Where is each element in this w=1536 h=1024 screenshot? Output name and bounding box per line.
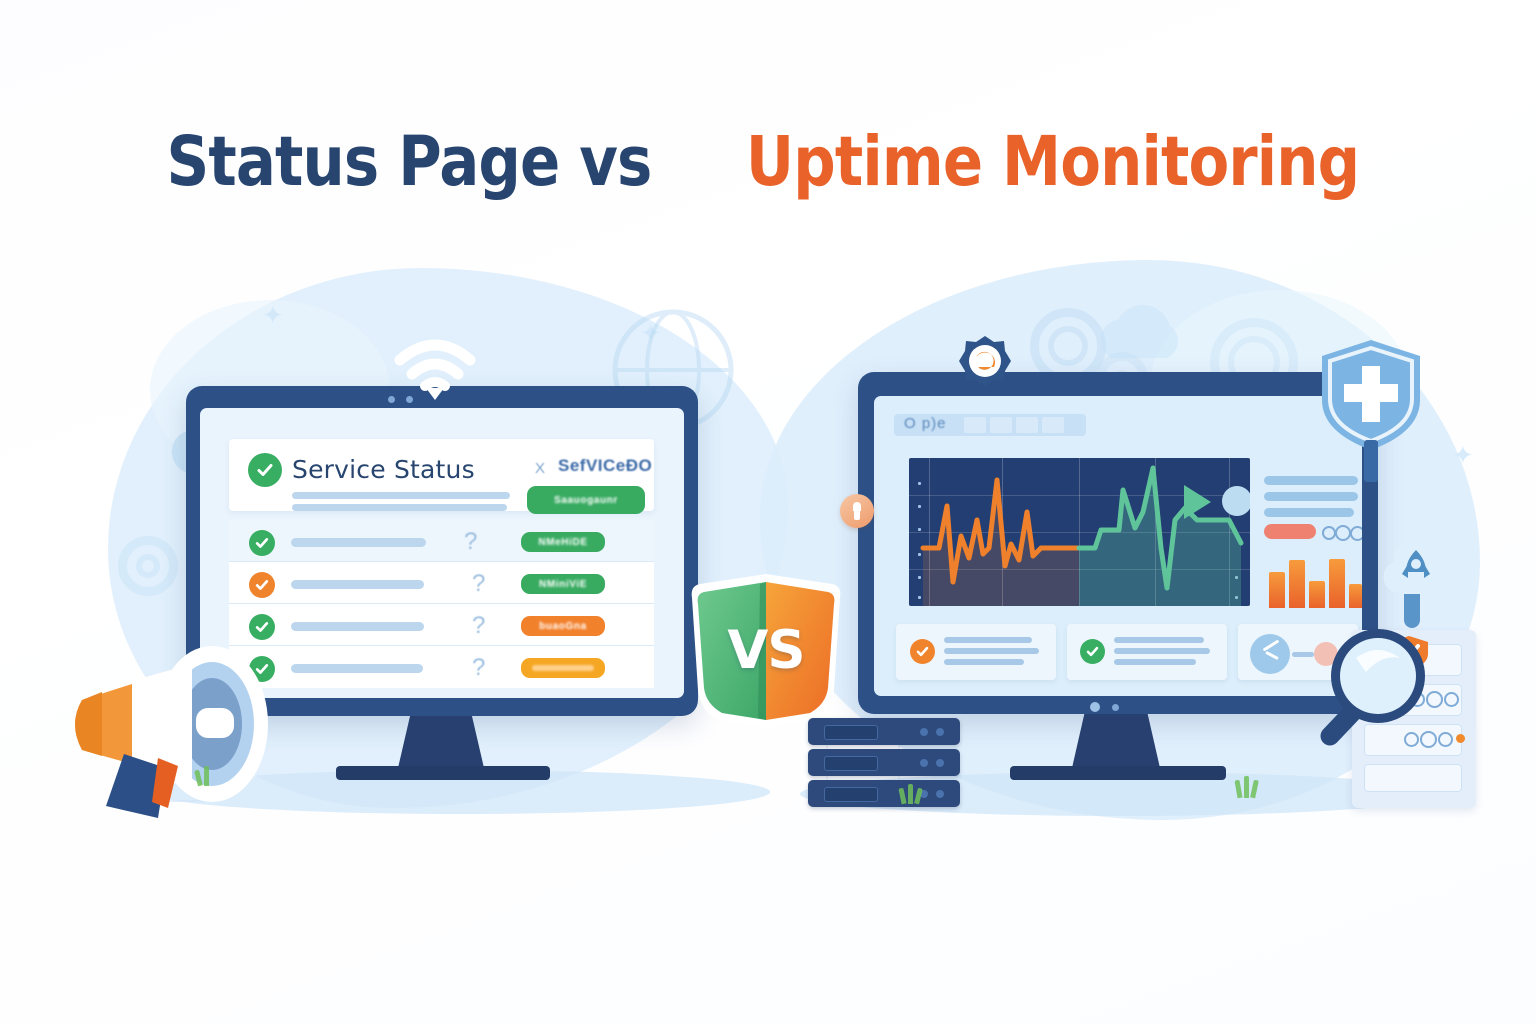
row-hint: ? (472, 612, 485, 640)
card-line (944, 637, 1032, 643)
card-status-icon (910, 639, 935, 664)
gear-icon (118, 536, 178, 596)
shield-health-icon (1316, 336, 1426, 454)
row-label-bar (291, 538, 426, 547)
row-status-label (532, 665, 594, 671)
magnifying-glass-icon (1286, 614, 1426, 764)
card-line (1114, 659, 1196, 665)
service-status-title: Service Status (292, 455, 475, 484)
monitor-led (1112, 704, 1119, 711)
sidebar-alert-pill[interactable] (1264, 524, 1316, 539)
sidebar-bar (1349, 584, 1362, 608)
row-status-icon (249, 572, 275, 598)
row-status-pill[interactable] (521, 658, 605, 678)
card-line (944, 648, 1039, 654)
grass-decor (1244, 776, 1249, 798)
card-line (1114, 637, 1204, 643)
row-hint: ? (472, 570, 485, 598)
title-uptime-monitoring: Uptime Monitoring (746, 122, 1359, 202)
vs-badge: VS (682, 570, 850, 730)
status-led (1456, 734, 1465, 743)
monitor-neck (398, 716, 484, 768)
illustration-canvas: Status Page vs Uptime Monitoring ✦ ✦ ✦ (0, 0, 1536, 1024)
placeholder-line (292, 504, 507, 511)
brand-x-mark: X (535, 460, 545, 477)
screen-header-label: O p)e (904, 415, 947, 432)
sidebar-bar (1329, 559, 1345, 608)
card-line (944, 659, 1024, 665)
header-segment (990, 417, 1012, 433)
status-ring-icon (1350, 526, 1362, 541)
cloud-stand (1404, 594, 1420, 628)
lock-icon (840, 494, 874, 528)
placeholder-line (292, 492, 510, 499)
title-status-page: Status Page vs (167, 122, 652, 202)
decor-cloud-icon (1090, 300, 1210, 380)
row-status-label: NMiniViE (539, 579, 587, 590)
chart-series (909, 458, 1250, 606)
wifi-icon (392, 338, 478, 400)
sidebar-text-line (1264, 508, 1354, 517)
grass-decor (204, 766, 209, 786)
row-label-bar (291, 580, 424, 589)
vs-label: VS (682, 570, 850, 730)
status-ring-icon (1322, 526, 1336, 540)
brand-name: SefVICeÐO (558, 456, 652, 476)
sidebar-bar (1289, 560, 1305, 608)
gear-badge-icon (958, 334, 1012, 388)
card-status-icon (1080, 639, 1105, 664)
status-dot (1222, 486, 1250, 516)
sparkle-icon: ✦ (262, 300, 284, 331)
row-status-pill[interactable]: NMiniViE (521, 574, 605, 594)
row-status-pill[interactable]: NMeHiDE (521, 532, 605, 552)
uptime-response-chart (909, 458, 1250, 606)
row-status-pill[interactable]: buaoGna (521, 616, 605, 636)
status-check-icon (248, 453, 282, 487)
sidebar-bar (1269, 572, 1285, 608)
monitor-base (1010, 766, 1226, 780)
header-action-label: Saauogaunr (554, 495, 618, 506)
sidebar-text-line (1264, 492, 1358, 501)
header-action-pill[interactable]: Saauogaunr (527, 486, 645, 514)
row-status-label: NMeHiDE (538, 537, 587, 548)
sidebar-text-line (1264, 476, 1358, 485)
shield-stand (1364, 440, 1378, 482)
grass-decor (908, 784, 913, 804)
server-rack-icon (808, 718, 968, 810)
row-hint: ? (464, 528, 477, 556)
sparkle-icon: ✦ (1452, 440, 1474, 471)
sidebar-bar (1309, 581, 1325, 608)
monitor-base (336, 766, 550, 780)
row-hint: ? (472, 654, 485, 682)
card-line (1114, 648, 1210, 654)
play-icon[interactable] (1184, 485, 1211, 519)
header-segment (1016, 417, 1038, 433)
row-status-label: buaoGna (539, 621, 587, 632)
status-ring-icon (1335, 525, 1351, 541)
header-segment (1042, 417, 1064, 433)
monitor-led (1090, 702, 1100, 712)
monitor-neck (1072, 714, 1160, 768)
cloud-rocket-icon (1374, 528, 1458, 608)
header-segment (964, 417, 986, 433)
row-status-icon (249, 530, 275, 556)
megaphone-icon (62, 630, 342, 830)
page-title: Status Page vs Uptime Monitoring (0, 122, 1536, 202)
